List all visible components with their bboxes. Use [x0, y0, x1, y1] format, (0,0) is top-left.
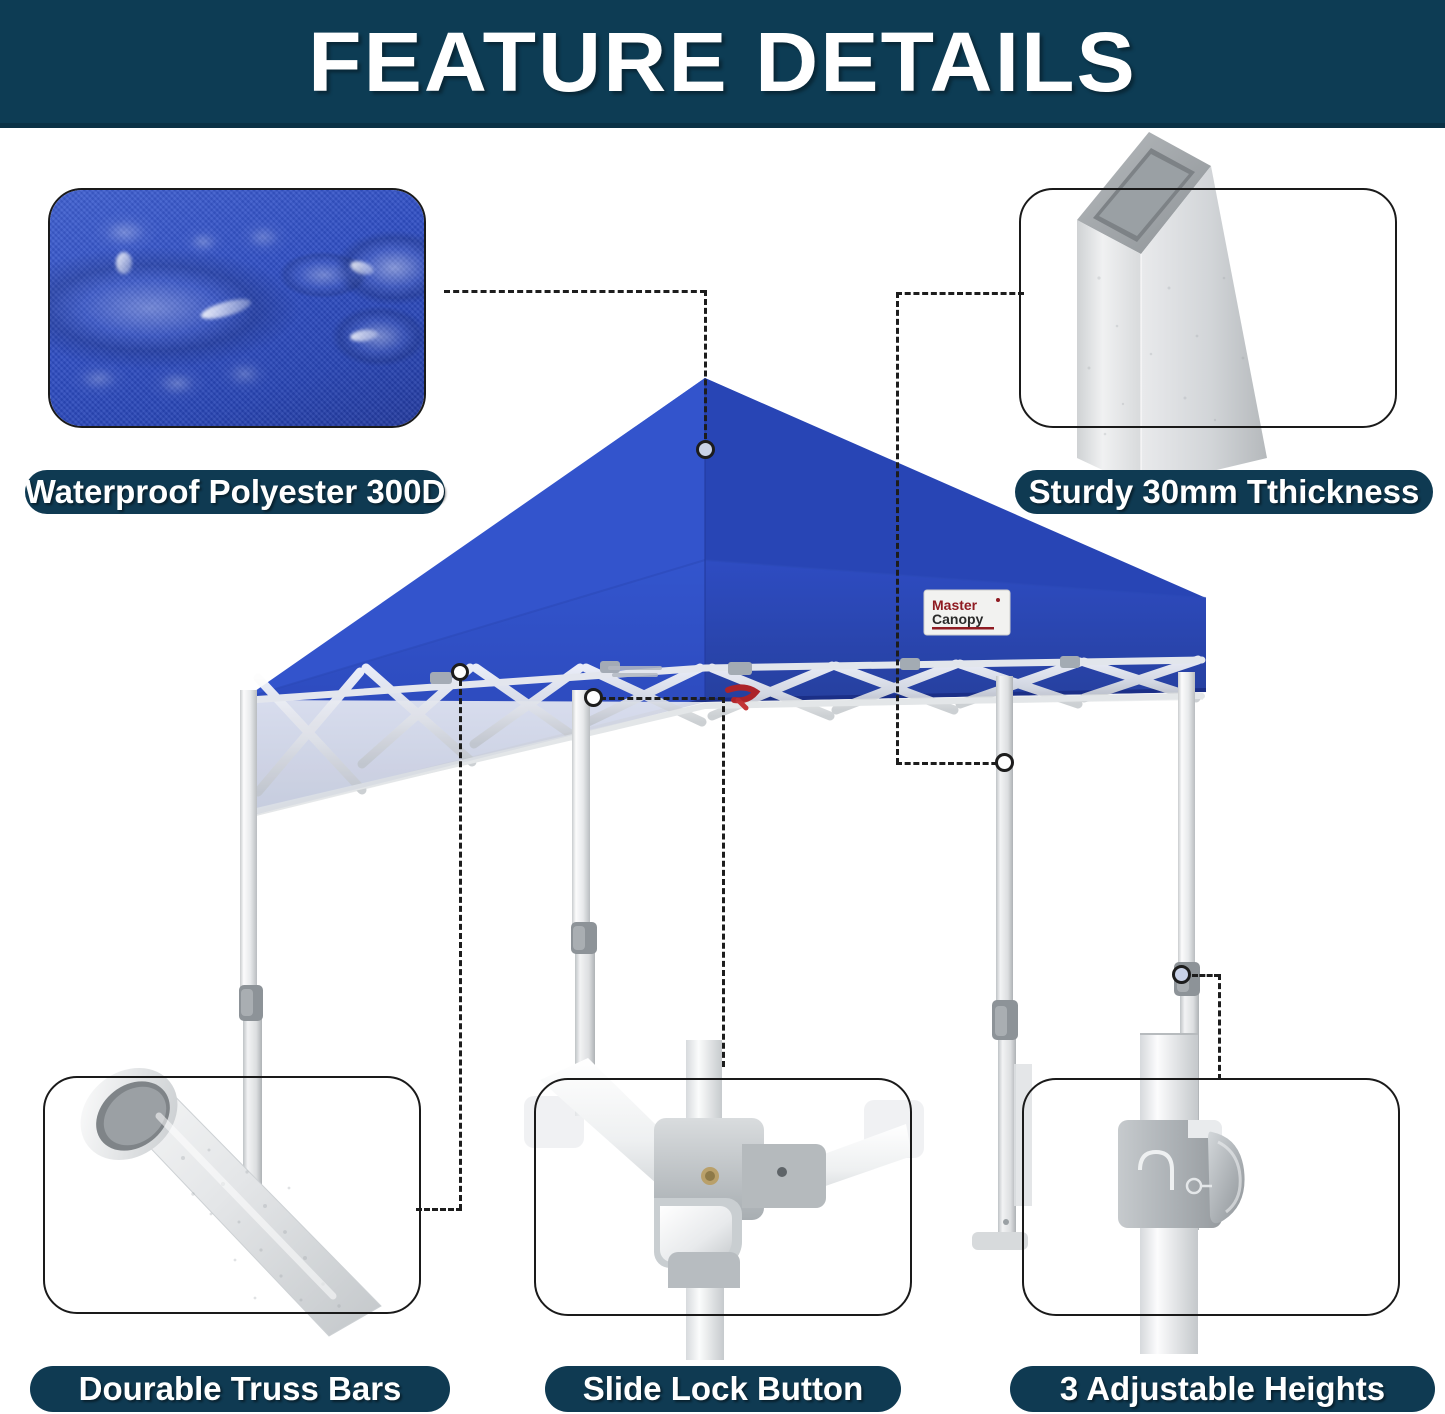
- square-tube-photo: [1019, 158, 1397, 398]
- callout-line-tube-horizontal-upper: [896, 292, 1024, 295]
- callout-dot-canopy-peak: [696, 440, 715, 459]
- label-waterproof-fabric: Waterproof Polyester 300D: [25, 470, 445, 514]
- callout-line-fabric-vertical: [704, 290, 707, 448]
- callout-line-fabric-horizontal: [444, 290, 706, 293]
- infographic-canvas: FEATURE DETAILS: [0, 0, 1445, 1414]
- svg-text:Canopy: Canopy: [932, 611, 984, 627]
- label-sturdy-tube: Sturdy 30mm Tthickness: [1015, 470, 1433, 514]
- callout-line-tube-vertical: [896, 292, 899, 764]
- callout-line-lock-horizontal: [600, 697, 724, 700]
- panel-sturdy-tube: [1019, 188, 1397, 428]
- height-collar-photo: [1022, 1058, 1400, 1358]
- slide-lock-photo: [534, 1060, 912, 1360]
- label-adjustable-heights: 3 Adjustable Heights: [1010, 1366, 1435, 1412]
- brand-label: Master Canopy: [924, 590, 1010, 635]
- callout-line-truss-vertical: [459, 680, 462, 1210]
- panel-waterproof-fabric: [48, 188, 426, 428]
- label-truss-bars: Dourable Truss Bars: [30, 1366, 450, 1412]
- droplet-highlight: [116, 252, 132, 274]
- panel-adjustable-heights: [1022, 1078, 1400, 1316]
- callout-dot-truss-bar: [451, 663, 469, 681]
- label-slide-lock: Slide Lock Button: [545, 1366, 901, 1412]
- panel-truss-bars: [43, 1076, 421, 1314]
- callout-line-collar-horizontal: [1192, 974, 1220, 977]
- callout-line-lock-vertical: [722, 697, 725, 1067]
- leg-front-center: [571, 690, 597, 1116]
- callout-line-tube-horizontal-lower: [896, 762, 1006, 765]
- truss-tube-photo: [33, 1054, 453, 1354]
- callout-dot-leg-tube: [995, 753, 1014, 772]
- panel-slide-lock: [534, 1078, 912, 1316]
- callout-dot-leg-collar: [1172, 965, 1191, 984]
- callout-dot-truss-joint: [584, 688, 603, 707]
